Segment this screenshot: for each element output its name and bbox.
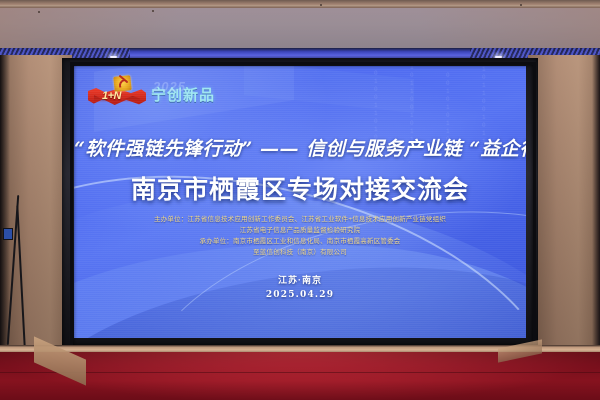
led-screen: 0 1 0 0 1 1 0 1 0 0 1 1 0 1 1 0 0 1 0 1 … <box>74 66 526 338</box>
ribbon-mark-label: 1+N <box>102 90 121 102</box>
event-title-sub: 南京市栖霞区专场对接交流会 <box>74 170 526 206</box>
ribbon-emblem: 1+N <box>88 76 146 110</box>
upper-wall-panel <box>0 8 600 48</box>
organizer-line: 承办单位：南京市栖霞区工业和信息化局、南京市栖霞高新区管委会 <box>74 236 526 247</box>
stage-photo-scene: 0 1 0 0 1 1 0 1 0 0 1 1 0 1 1 0 0 1 0 1 … <box>0 0 600 400</box>
event-logo: 1+N 2025 宁创新品 <box>88 76 215 110</box>
event-title-main: “软件强链先锋行动” —— 信创与服务产业链 “益企行” <box>74 134 526 161</box>
organizer-line: 主办单位：江苏省信息技术应用创新工作委员会、江苏省工业软件+信息技术应用创新产业… <box>74 214 526 225</box>
event-footer: 江苏·南京 2025.04.29 <box>74 273 526 300</box>
wall-shadow-right <box>592 55 600 347</box>
ceiling-fixture-dot <box>152 10 154 12</box>
logo-wordmark: 2025 宁创新品 <box>151 82 215 105</box>
wall-column-right <box>528 55 600 345</box>
carpet-seam <box>0 372 600 373</box>
cable-junction-box <box>3 228 13 240</box>
wall-shadow-left <box>0 55 10 347</box>
organizer-block: 主办单位：江苏省信息技术应用创新工作委员会、江苏省工业软件+信息技术应用创新产业… <box>74 214 526 258</box>
screen-content: 1+N 2025 宁创新品 “软件强链先锋行动” —— 信创与服务产业链 “益企… <box>74 66 526 338</box>
ceiling-fixture-dot <box>520 4 522 6</box>
ceiling-fixture-dot <box>320 4 322 6</box>
logo-year: 2025 <box>153 79 186 94</box>
organizer-line: 江苏省电子信息产品质量监督检验研究院 <box>74 225 526 236</box>
ceiling-fixture-dot <box>38 11 40 13</box>
organizer-line: 至蓝信创科技（南京）有限公司 <box>74 247 526 258</box>
event-location: 江苏·南京 <box>74 273 526 286</box>
event-date: 2025.04.29 <box>74 290 526 300</box>
